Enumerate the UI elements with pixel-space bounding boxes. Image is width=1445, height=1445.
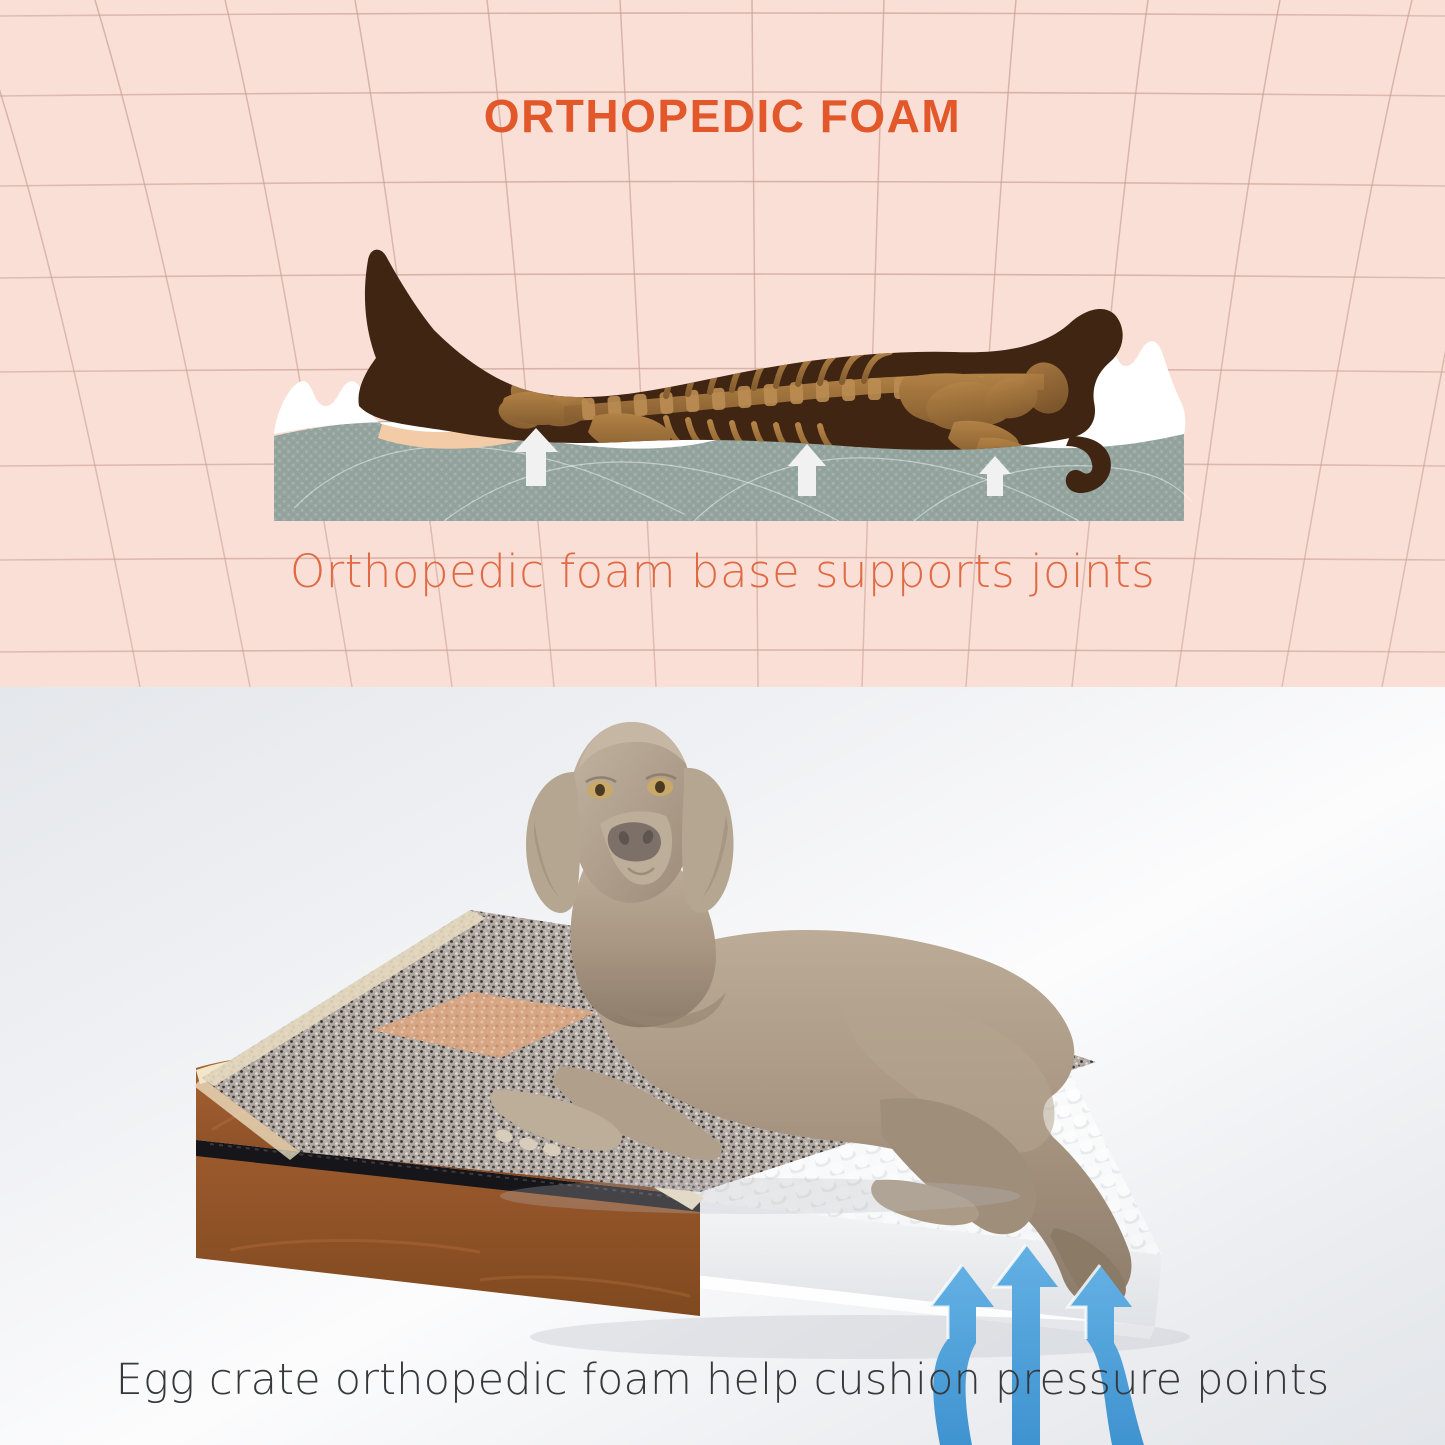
panel-caption: Orthopedic foam base supports joints [0, 545, 1445, 598]
panel-title: ORTHOPEDIC FOAM [0, 89, 1445, 143]
foam-cross-section-diagram [264, 238, 1194, 530]
infographic-page: ORTHOPEDIC FOAM [0, 0, 1445, 1445]
dog-on-bed-photo [0, 687, 1445, 1445]
dog-body-silhouette [358, 250, 1122, 450]
orthopedic-foam-panel: ORTHOPEDIC FOAM [0, 0, 1445, 687]
product-photo-panel: Egg crate orthopedic foam help cushion p… [0, 687, 1445, 1445]
photo-caption: Egg crate orthopedic foam help cushion p… [0, 1355, 1445, 1405]
